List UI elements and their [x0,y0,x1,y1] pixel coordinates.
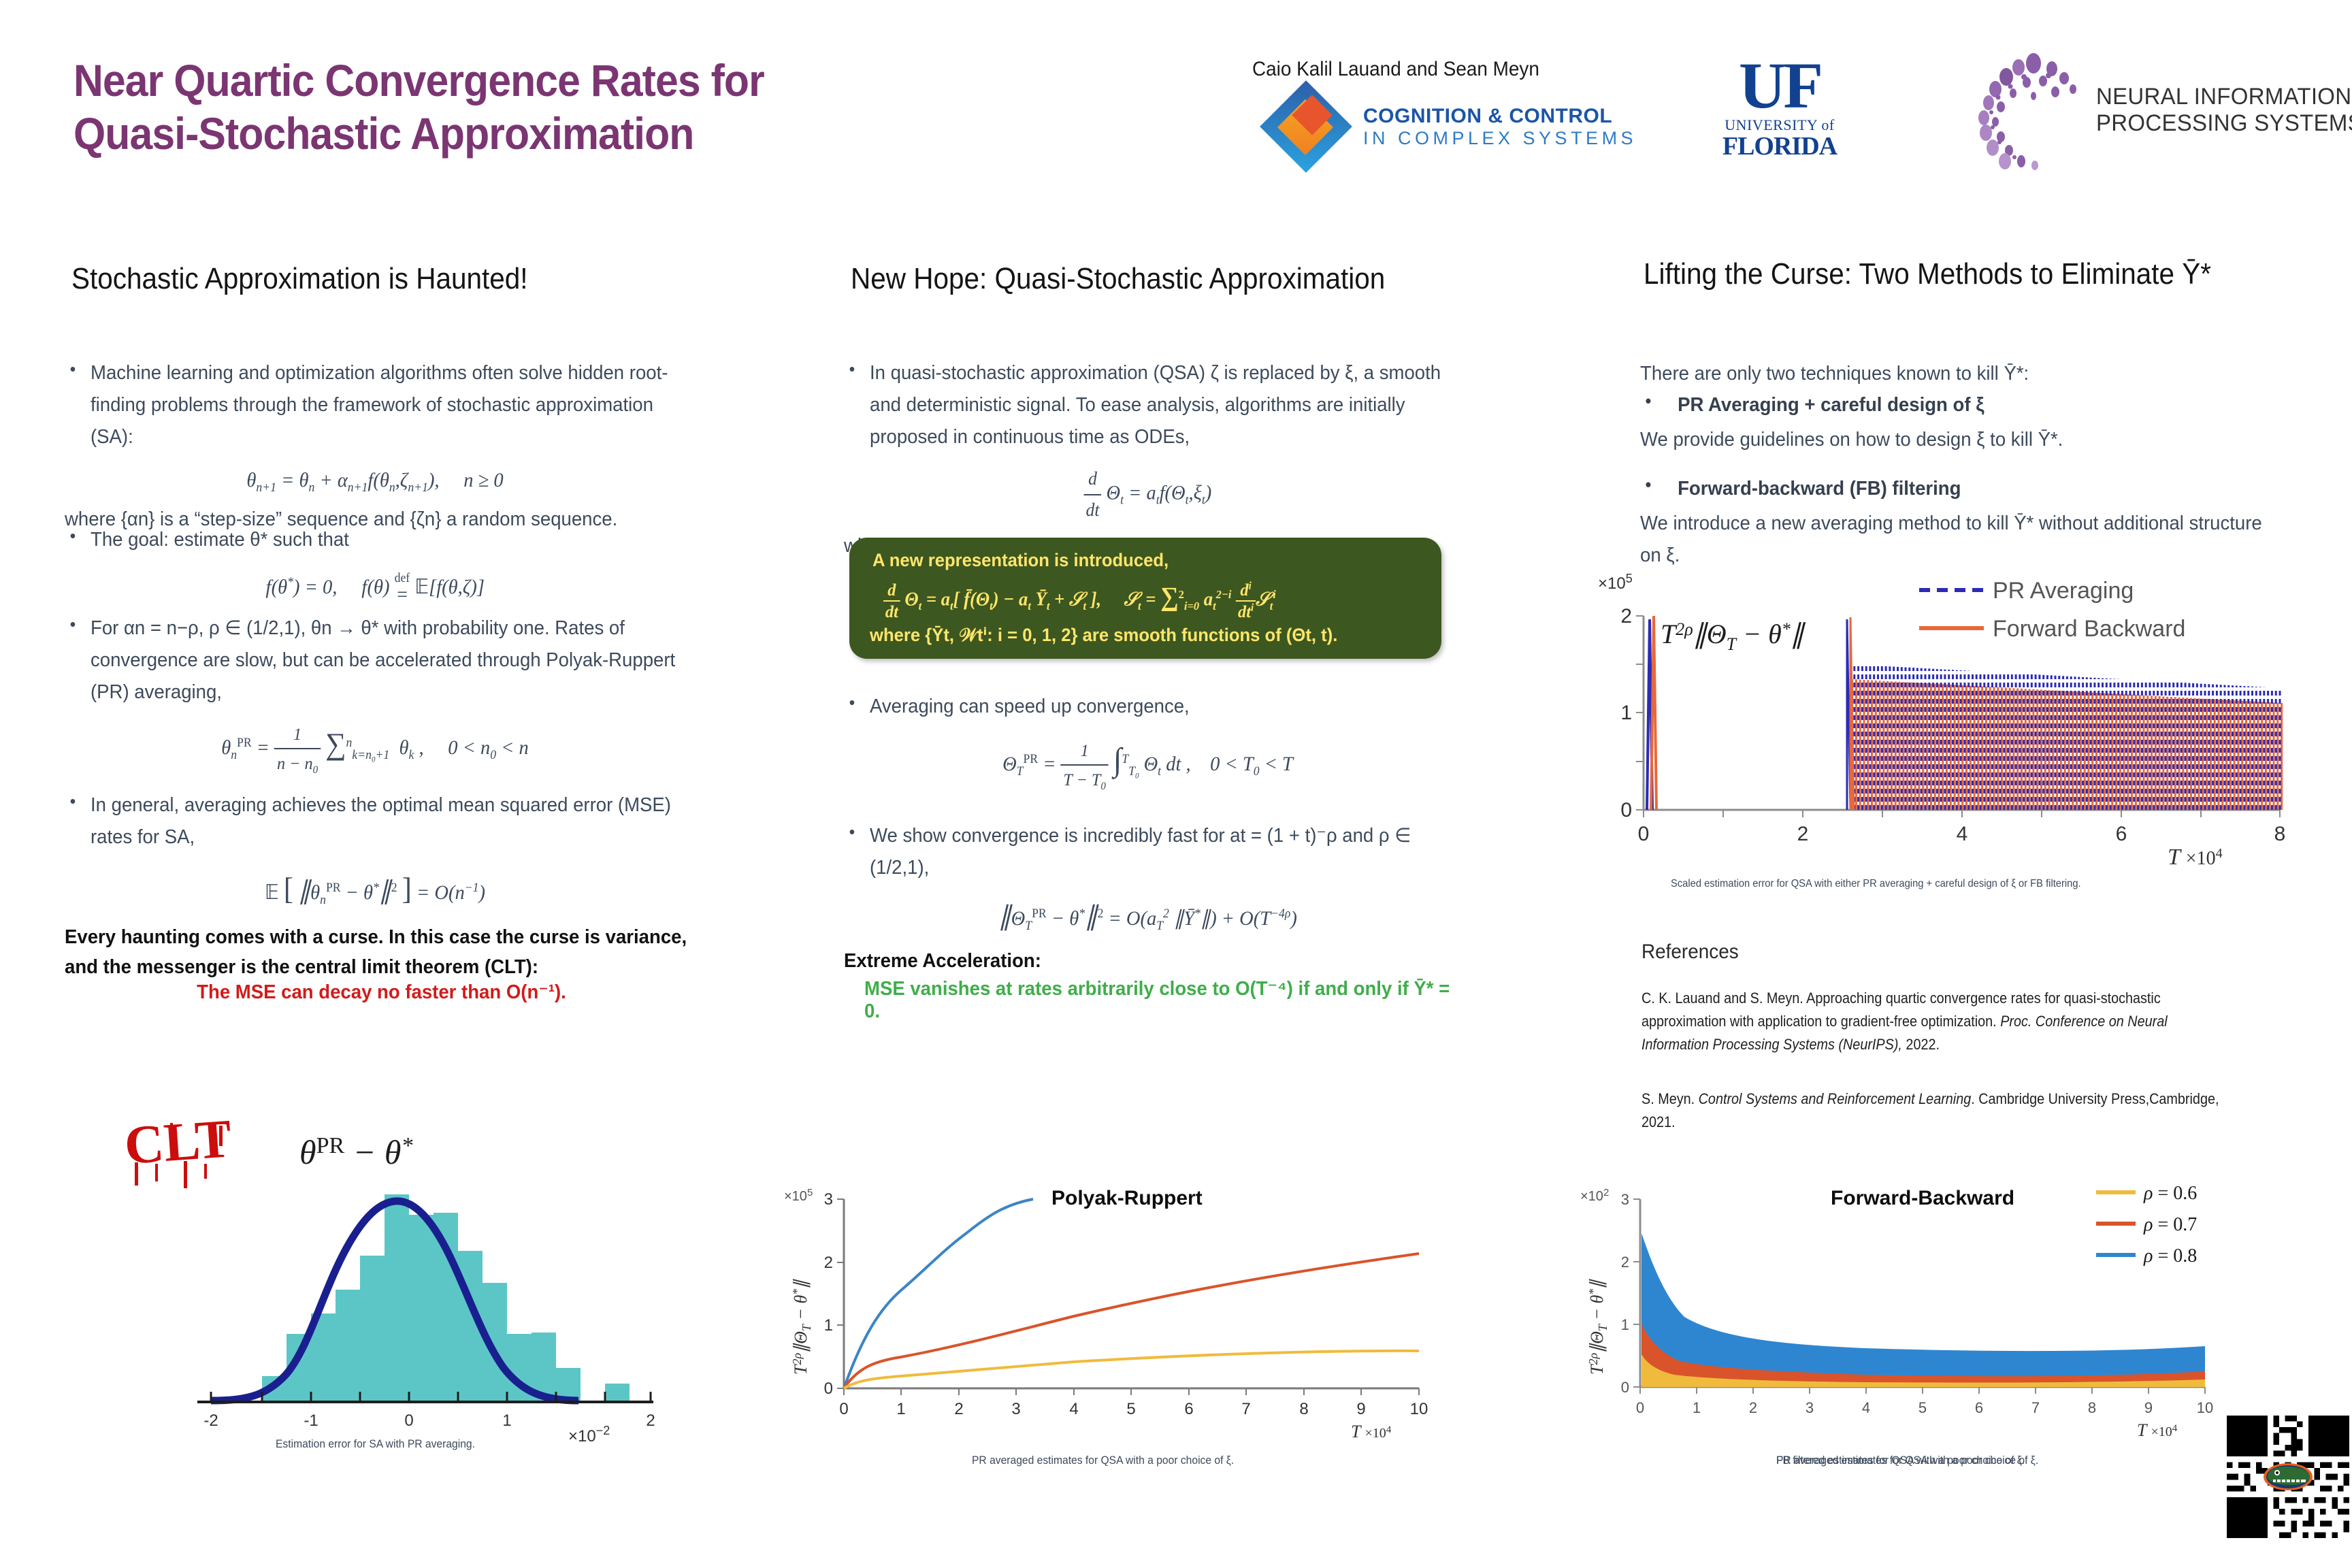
col1-curse-line-1: Every haunting comes with a curse. In th… [65,922,698,952]
svg-text:-1: -1 [304,1411,318,1430]
cognition-control-wordmark: COGNITION & CONTROL IN COMPLEX SYSTEMS [1363,105,1637,149]
svg-text:8: 8 [1299,1400,1308,1418]
uf-logo-line-2: FLORIDA [1705,134,1855,159]
section-heading-col3: Lifting the Curse: Two Methods to Elimin… [1644,257,2211,291]
svg-text:3: 3 [1011,1400,1020,1418]
svg-text:0: 0 [839,1400,848,1418]
histogram-bars [262,1194,630,1402]
svg-text:3: 3 [1621,1191,1629,1208]
svg-text:9: 9 [2144,1399,2153,1416]
svg-text:1: 1 [1693,1399,1701,1416]
svg-text:1: 1 [896,1400,905,1418]
svg-text:2: 2 [1621,1254,1629,1271]
qsa-fb-initial-spike [1651,616,1656,810]
svg-text:7: 7 [2031,1399,2040,1416]
section-heading-col2: New Hope: Quasi-Stochastic Approximation [851,262,1385,296]
polyak-ruppert-chart: Polyak-Ruppert ×105 012 345 678 910 0123… [769,1171,1490,1443]
col2-bullet-2-text: Averaging can speed up convergence, [870,696,1190,717]
svg-text:4: 4 [1862,1399,1870,1416]
svg-text:1: 1 [824,1316,833,1335]
svg-text:0: 0 [1638,823,1650,845]
section-heading-col1: Stochastic Approximation is Haunted! [71,262,528,296]
svg-text:4: 4 [1069,1400,1078,1418]
col2-extreme-heading: Extreme Acceleration: [844,946,1041,976]
fb-y-scale-label: ×102 [1580,1187,1609,1204]
ref2-part-a: S. Meyn. [1641,1090,1699,1107]
fb-x-tick-labels: 012 345 678 910 [1636,1399,2213,1416]
col1-bullet-1-text: Machine learning and optimization algori… [91,362,668,448]
qsa-legend-label-fb: Forward Backward [1993,616,2185,642]
neurips-logo-line-1: NEURAL INFORMATION [2096,84,2352,110]
forward-backward-chart: Forward-Backward ×102 ρ = 0.6 ρ = 0.7 ρ … [1565,1171,2287,1443]
qsa-x-tick-labels: 024 68 [1638,823,2286,845]
neurips-swirl-icon [1953,51,2096,174]
green-box-line-3: where {Ȳt, 𝒲tⁱ: i = 0, 1, 2} are smooth … [870,625,1337,647]
col1-equation-4: 𝔼 [ ∥θnPR − θ*∥2 ] = O(n−1) [65,864,685,914]
svg-text:10: 10 [2197,1399,2213,1416]
svg-text:8: 8 [2274,823,2286,845]
qr-code[interactable] [2227,1416,2349,1538]
col1-bullet-2-text: The goal: estimate θ* such that [91,529,349,551]
neurips-logo: NEURAL INFORMATION PROCESSING SYSTEMS [1953,51,2321,174]
svg-text:2: 2 [1620,605,1632,627]
col3-chart-caption: Scaled estimation error for QSA with eit… [1671,878,2081,890]
fb-x-axis-label: T ×104 [2137,1420,2178,1440]
svg-text:5: 5 [1126,1400,1135,1418]
col1-equation-2: f(θ*) = 0, f(θ) def= 𝔼[f(θ,ζ)] [65,567,685,605]
clt-blood-label-icon: CLT [122,1109,233,1188]
fb-chart-title: Forward-Backward [1831,1187,2014,1209]
col1-bullet-4-text: In general, averaging achieves the optim… [91,794,671,848]
col1-bullet-3-text: For αn = n−ρ, ρ ∈ (1/2,1), θn → θ* with … [91,617,675,703]
pr-series-rho-0-6 [844,1351,1419,1388]
pr-y-axis-label: T2ρ∥ΘT − θ*∥ [790,1279,813,1375]
svg-text:2: 2 [1749,1399,1757,1416]
pr-x-axis-label: T ×104 [1351,1422,1392,1441]
col3-method-1: PR Averaging + careful design of ξ We pr… [1640,389,2274,456]
svg-text:5: 5 [1918,1399,1927,1416]
svg-text:6: 6 [1184,1400,1193,1418]
svg-text:2: 2 [954,1400,963,1418]
cc-logo-line-2: IN COMPLEX SYSTEMS [1363,128,1637,149]
qsa-annotation: T2ρ∥ΘT − θ*∥ [1661,619,1806,654]
fb-chart-caption: FB filtered estimates for QSA with a poo… [1776,1454,2025,1467]
green-box-line-1: A new representation is introduced, [872,550,1169,571]
svg-text:0: 0 [404,1411,413,1430]
qsa-y-tick-labels: 012 [1620,605,1632,821]
col2-chart-caption: PR averaged estimates for QSA with a poo… [972,1454,1234,1467]
ref1-part-b: 2022. [1902,1036,1940,1053]
gator-logo-icon [2262,1459,2314,1494]
cognition-control-logo: COGNITION & CONTROL IN COMPLEX SYSTEMS [1262,88,1589,170]
cc-logo-line-1: COGNITION & CONTROL [1363,105,1637,128]
svg-text:0: 0 [1636,1399,1644,1416]
fb-legend-label-0-6: ρ = 0.6 [2143,1183,2197,1204]
pr-y-tick-labels: 0123 [824,1190,833,1398]
pr-series-rho-0-7 [844,1254,1419,1388]
svg-text:1: 1 [1620,702,1632,724]
svg-text:8: 8 [2088,1399,2096,1416]
svg-text:9: 9 [1356,1400,1365,1418]
svg-text:3: 3 [1806,1399,1814,1416]
svg-text:6: 6 [1975,1399,1983,1416]
svg-text:2: 2 [1797,823,1809,845]
svg-text:3: 3 [824,1190,833,1209]
col1-curse-statement: Every haunting comes with a curse. In th… [65,922,698,982]
x-scale-label: ×10−2 [568,1424,610,1445]
svg-text:10: 10 [1410,1400,1428,1418]
neurips-logo-line-2: PROCESSING SYSTEMS [2096,110,2352,137]
svg-text:7: 7 [1241,1400,1250,1418]
col1-bullet-4: In general, averaging achieves the optim… [65,789,685,919]
fb-legend-label-0-8: ρ = 0.8 [2143,1245,2197,1267]
reference-item-2: S. Meyn. Control Systems and Reinforceme… [1641,1088,2223,1134]
neurips-wordmark: NEURAL INFORMATION PROCESSING SYSTEMS [2096,84,2352,137]
svg-text:2: 2 [824,1254,833,1272]
col2-bullet-2: Averaging can speed up convergence, ΘTPR… [844,691,1452,801]
qsa-x-axis-label: T ×104 [2168,845,2223,870]
fb-y-axis-label: T2ρ∥ΘT − θ*∥ [1586,1279,1610,1375]
col1-bullet-1: Machine learning and optimization algori… [65,357,685,536]
fb-legend: ρ = 0.6 ρ = 0.7 ρ = 0.8 [2096,1183,2197,1267]
col3-method-1-label: PR Averaging + careful design of ξ [1678,394,1984,416]
pr-chart-title: Polyak-Ruppert [1051,1187,1203,1209]
svg-text:4: 4 [1957,823,1968,845]
qsa-legend-label-pr: PR Averaging [1993,578,2134,604]
col1-equation-3: θnPR = 1 n − n0 ∑nk=n0+1 θk , 0 < n0 < n [65,719,685,779]
col2-equation-2: ΘTPR = 1 T − T0 ∫TT0 Θt dt , 0 < T0 < T [844,734,1452,796]
qsa-y-scale-label: ×105 [1598,572,1633,593]
col2-bullet-1-text: In quasi-stochastic approximation (QSA) … [870,362,1441,448]
pr-y-scale-label: ×105 [784,1187,813,1204]
col2-bullet-1: In quasi-stochastic approximation (QSA) … [844,357,1452,562]
svg-text:1: 1 [502,1411,511,1430]
col1-equation-1: θn+1 = θn + αn+1f(θn,ζn+1), n ≥ 0 [65,464,685,498]
title-line-2: Quasi-Stochastic Approximation [73,108,981,161]
svg-text:1: 1 [1621,1316,1629,1333]
pr-x-tick-labels: 012 345 678 910 [839,1400,1428,1418]
references-heading: References [1641,941,1739,964]
col3-method-1-text: We provide guidelines on how to design ξ… [1640,424,2274,456]
svg-text:0: 0 [1620,799,1632,821]
clt-annotation: θPR − θ* [299,1133,412,1171]
author-list: Caio Kalil Lauand and Sean Meyn [1252,58,1539,81]
col2-extreme-statement: MSE vanishes at rates arbitrarily close … [864,977,1459,1023]
pr-series-rho-0-8 [844,1199,1033,1388]
col1-bullet-3: For αn = n−ρ, ρ ∈ (1/2,1), θn → θ* with … [65,612,685,785]
svg-text:CLT: CLT [122,1109,233,1176]
fb-legend-label-0-7: ρ = 0.7 [2143,1214,2197,1235]
col2-bullet-3: We show convergence is incredibly fast f… [844,820,1452,943]
svg-text:6: 6 [2116,823,2127,845]
qsa-legend: PR Averaging Forward Backward [1919,578,2185,642]
col1-bullet-2: The goal: estimate θ* such that f(θ*) = … [65,524,685,610]
green-callout-box: A new representation is introduced, d dt… [849,538,1441,659]
clt-histogram-chart: -2-1 012 ×10−2 θPR − θ* CLT [102,1082,681,1463]
green-box-equation: d dt Θt = at[ f̄(Θt) − at Ῡt + 𝒮t ], 𝒮t… [883,580,1276,622]
col1-curse-line-2: and the messenger is the central limit t… [65,952,698,982]
col2-bullet-3-text: We show convergence is incredibly fast f… [870,825,1411,879]
col3-method-2-label: Forward-backward (FB) filtering [1678,478,1961,500]
ref2-italic: Control Systems and Reinforcement Learni… [1699,1090,1972,1107]
svg-text:-2: -2 [203,1411,218,1430]
col1-curse-red: The MSE can decay no faster than O(n⁻¹). [65,980,698,1004]
uf-monogram: UF [1705,54,1855,116]
fb-y-tick-labels: 0123 [1621,1191,1629,1396]
university-of-florida-logo: UF UNIVERSITY of FLORIDA [1705,54,1855,174]
page-title: Near Quartic Convergence Rates for Quasi… [73,54,981,161]
col2-equation-3: ∥ΘTPR − θ*∥2 = O(aT2 ∥Ῡ*∥) + O(T−4ρ) [844,895,1452,938]
qsa-pr-vs-fb-chart: ×105 PR Averaging Forward Backward 024 6… [1579,555,2327,875]
title-line-1: Near Quartic Convergence Rates for [73,54,981,108]
reference-item-1: C. K. Lauand and S. Meyn. Approaching qu… [1641,987,2223,1056]
svg-text:2: 2 [646,1411,655,1430]
col2-equation-1: d dt Θt = atf(Θt,ξt) [844,464,1452,525]
col1-chart-caption: Estimation error for SA with PR averagin… [276,1437,475,1451]
svg-text:0: 0 [1621,1379,1629,1396]
svg-text:0: 0 [824,1379,833,1398]
col3-intro: There are only two techniques known to k… [1640,359,2274,388]
